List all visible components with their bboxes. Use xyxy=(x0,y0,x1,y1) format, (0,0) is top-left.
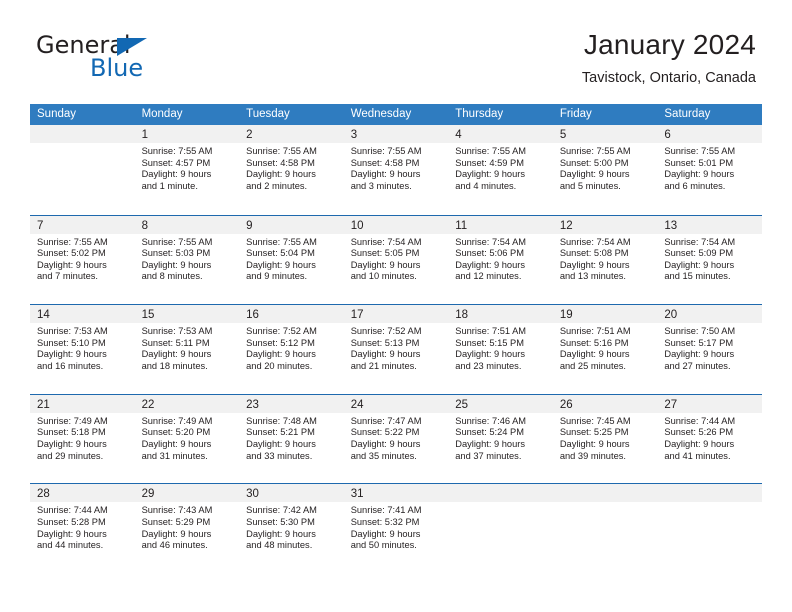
daylight-text-line1: Daylight: 9 hours xyxy=(560,439,654,451)
daylight-text-line2: and 35 minutes. xyxy=(351,451,445,463)
sunset-text: Sunset: 4:58 PM xyxy=(351,158,445,170)
day-number: 24 xyxy=(351,399,364,411)
day-info: Sunrise: 7:54 AMSunset: 5:09 PMDaylight:… xyxy=(657,234,762,283)
sunset-text: Sunset: 5:26 PM xyxy=(664,427,758,439)
day-number-band: 27 xyxy=(657,395,762,413)
day-info: Sunrise: 7:52 AMSunset: 5:12 PMDaylight:… xyxy=(239,323,344,372)
daylight-text-line1: Daylight: 9 hours xyxy=(246,439,340,451)
day-number: 28 xyxy=(37,488,50,500)
day-info: Sunrise: 7:44 AMSunset: 5:28 PMDaylight:… xyxy=(30,502,135,551)
day-cell[interactable]: 6Sunrise: 7:55 AMSunset: 5:01 PMDaylight… xyxy=(657,125,762,215)
day-info: Sunrise: 7:47 AMSunset: 5:22 PMDaylight:… xyxy=(344,413,449,462)
sunrise-text: Sunrise: 7:54 AM xyxy=(455,237,549,249)
day-number: 23 xyxy=(246,399,259,411)
day-number: 14 xyxy=(37,309,50,321)
day-info: Sunrise: 7:54 AMSunset: 5:08 PMDaylight:… xyxy=(553,234,658,283)
daylight-text-line2: and 31 minutes. xyxy=(142,451,236,463)
sunrise-text: Sunrise: 7:41 AM xyxy=(351,505,445,517)
sunset-text: Sunset: 5:10 PM xyxy=(37,338,131,350)
daylight-text-line1: Daylight: 9 hours xyxy=(246,529,340,541)
sunset-text: Sunset: 5:12 PM xyxy=(246,338,340,350)
sunset-text: Sunset: 5:08 PM xyxy=(560,248,654,260)
daylight-text-line2: and 9 minutes. xyxy=(246,271,340,283)
day-info: Sunrise: 7:55 AMSunset: 5:03 PMDaylight:… xyxy=(135,234,240,283)
daylight-text-line2: and 16 minutes. xyxy=(37,361,131,373)
daylight-text-line2: and 27 minutes. xyxy=(664,361,758,373)
day-cell[interactable]: 3Sunrise: 7:55 AMSunset: 4:58 PMDaylight… xyxy=(344,125,449,215)
day-number-band: 24 xyxy=(344,395,449,413)
sunrise-text: Sunrise: 7:52 AM xyxy=(351,326,445,338)
day-number-band xyxy=(448,484,553,502)
sunset-text: Sunset: 5:00 PM xyxy=(560,158,654,170)
general-blue-logo[interactable]: General Blue xyxy=(36,31,236,83)
daylight-text-line1: Daylight: 9 hours xyxy=(455,349,549,361)
day-number: 30 xyxy=(246,488,259,500)
day-info: Sunrise: 7:44 AMSunset: 5:26 PMDaylight:… xyxy=(657,413,762,462)
day-number: 4 xyxy=(455,129,461,141)
day-number-band xyxy=(553,484,658,502)
sunset-text: Sunset: 5:21 PM xyxy=(246,427,340,439)
weekday-header-saturday: Saturday xyxy=(657,104,762,125)
day-number-band: 25 xyxy=(448,395,553,413)
daylight-text-line1: Daylight: 9 hours xyxy=(37,529,131,541)
day-cell[interactable]: 17Sunrise: 7:52 AMSunset: 5:13 PMDayligh… xyxy=(344,305,449,394)
day-number-band: 23 xyxy=(239,395,344,413)
calendar-weeks: 1Sunrise: 7:55 AMSunset: 4:57 PMDaylight… xyxy=(30,125,762,573)
logo-text-blue: Blue xyxy=(90,54,143,82)
day-info: Sunrise: 7:55 AMSunset: 4:58 PMDaylight:… xyxy=(239,143,344,192)
daylight-text-line1: Daylight: 9 hours xyxy=(142,260,236,272)
day-number-band xyxy=(657,484,762,502)
daylight-text-line1: Daylight: 9 hours xyxy=(142,349,236,361)
sunset-text: Sunset: 5:28 PM xyxy=(37,517,131,529)
day-number-band: 8 xyxy=(135,216,240,234)
daylight-text-line2: and 23 minutes. xyxy=(455,361,549,373)
day-number: 29 xyxy=(142,488,155,500)
daylight-text-line2: and 44 minutes. xyxy=(37,540,131,552)
day-info: Sunrise: 7:51 AMSunset: 5:16 PMDaylight:… xyxy=(553,323,658,372)
sunset-text: Sunset: 4:57 PM xyxy=(142,158,236,170)
daylight-text-line2: and 18 minutes. xyxy=(142,361,236,373)
daylight-text-line2: and 10 minutes. xyxy=(351,271,445,283)
day-cell[interactable]: 16Sunrise: 7:52 AMSunset: 5:12 PMDayligh… xyxy=(239,305,344,394)
day-info: Sunrise: 7:52 AMSunset: 5:13 PMDaylight:… xyxy=(344,323,449,372)
day-number: 3 xyxy=(351,129,357,141)
day-cell[interactable]: 21Sunrise: 7:49 AMSunset: 5:18 PMDayligh… xyxy=(30,395,135,484)
day-number-band: 9 xyxy=(239,216,344,234)
day-number-band: 4 xyxy=(448,125,553,143)
sunrise-text: Sunrise: 7:55 AM xyxy=(351,146,445,158)
day-number: 13 xyxy=(664,220,677,232)
day-number: 9 xyxy=(246,220,252,232)
day-number-band: 31 xyxy=(344,484,449,502)
daylight-text-line1: Daylight: 9 hours xyxy=(351,260,445,272)
sunrise-text: Sunrise: 7:42 AM xyxy=(246,505,340,517)
sunrise-text: Sunrise: 7:55 AM xyxy=(142,237,236,249)
daylight-text-line2: and 46 minutes. xyxy=(142,540,236,552)
day-cell[interactable]: 14Sunrise: 7:53 AMSunset: 5:10 PMDayligh… xyxy=(30,305,135,394)
day-cell[interactable]: 4Sunrise: 7:55 AMSunset: 4:59 PMDaylight… xyxy=(448,125,553,215)
day-number-band: 19 xyxy=(553,305,658,323)
daylight-text-line1: Daylight: 9 hours xyxy=(455,260,549,272)
day-cell[interactable]: 8Sunrise: 7:55 AMSunset: 5:03 PMDaylight… xyxy=(135,216,240,305)
day-number-band: 14 xyxy=(30,305,135,323)
day-number: 17 xyxy=(351,309,364,321)
day-cell[interactable]: 30Sunrise: 7:42 AMSunset: 5:30 PMDayligh… xyxy=(239,484,344,573)
day-number: 21 xyxy=(37,399,50,411)
day-number: 15 xyxy=(142,309,155,321)
daylight-text-line2: and 13 minutes. xyxy=(560,271,654,283)
day-number: 7 xyxy=(37,220,43,232)
day-number-band: 16 xyxy=(239,305,344,323)
day-cell[interactable]: 7Sunrise: 7:55 AMSunset: 5:02 PMDaylight… xyxy=(30,216,135,305)
daylight-text-line2: and 41 minutes. xyxy=(664,451,758,463)
sunrise-text: Sunrise: 7:45 AM xyxy=(560,416,654,428)
day-cell[interactable]: 9Sunrise: 7:55 AMSunset: 5:04 PMDaylight… xyxy=(239,216,344,305)
calendar-week-row: 1Sunrise: 7:55 AMSunset: 4:57 PMDaylight… xyxy=(30,125,762,215)
sunset-text: Sunset: 5:17 PM xyxy=(664,338,758,350)
daylight-text-line1: Daylight: 9 hours xyxy=(351,529,445,541)
day-cell-empty xyxy=(657,484,762,573)
page-header: General Blue January 2024 Tavistock, Ont… xyxy=(0,0,792,103)
daylight-text-line1: Daylight: 9 hours xyxy=(455,439,549,451)
daylight-text-line1: Daylight: 9 hours xyxy=(37,260,131,272)
daylight-text-line1: Daylight: 9 hours xyxy=(455,169,549,181)
day-number-band: 26 xyxy=(553,395,658,413)
sunrise-text: Sunrise: 7:53 AM xyxy=(37,326,131,338)
sunrise-text: Sunrise: 7:47 AM xyxy=(351,416,445,428)
day-cell[interactable]: 19Sunrise: 7:51 AMSunset: 5:16 PMDayligh… xyxy=(553,305,658,394)
day-cell-empty xyxy=(448,484,553,573)
day-number-band: 6 xyxy=(657,125,762,143)
day-number-band: 20 xyxy=(657,305,762,323)
day-number-band: 7 xyxy=(30,216,135,234)
day-info: Sunrise: 7:53 AMSunset: 5:11 PMDaylight:… xyxy=(135,323,240,372)
calendar-week-row: 21Sunrise: 7:49 AMSunset: 5:18 PMDayligh… xyxy=(30,394,762,484)
page-title: January 2024 xyxy=(582,28,756,62)
sunrise-text: Sunrise: 7:46 AM xyxy=(455,416,549,428)
day-number-band: 2 xyxy=(239,125,344,143)
day-cell[interactable]: 18Sunrise: 7:51 AMSunset: 5:15 PMDayligh… xyxy=(448,305,553,394)
sunrise-text: Sunrise: 7:55 AM xyxy=(560,146,654,158)
sunset-text: Sunset: 5:25 PM xyxy=(560,427,654,439)
day-info: Sunrise: 7:55 AMSunset: 5:00 PMDaylight:… xyxy=(553,143,658,192)
day-info: Sunrise: 7:45 AMSunset: 5:25 PMDaylight:… xyxy=(553,413,658,462)
day-cell[interactable]: 23Sunrise: 7:48 AMSunset: 5:21 PMDayligh… xyxy=(239,395,344,484)
daylight-text-line1: Daylight: 9 hours xyxy=(142,439,236,451)
day-number: 18 xyxy=(455,309,468,321)
sunrise-text: Sunrise: 7:55 AM xyxy=(246,146,340,158)
sunrise-text: Sunrise: 7:43 AM xyxy=(142,505,236,517)
sunset-text: Sunset: 5:24 PM xyxy=(455,427,549,439)
sunrise-text: Sunrise: 7:55 AM xyxy=(37,237,131,249)
weekday-header-tuesday: Tuesday xyxy=(239,104,344,125)
day-cell[interactable]: 31Sunrise: 7:41 AMSunset: 5:32 PMDayligh… xyxy=(344,484,449,573)
sunset-text: Sunset: 5:32 PM xyxy=(351,517,445,529)
daylight-text-line2: and 20 minutes. xyxy=(246,361,340,373)
day-number-band: 18 xyxy=(448,305,553,323)
day-number: 31 xyxy=(351,488,364,500)
title-block: January 2024 Tavistock, Ontario, Canada xyxy=(582,28,756,87)
daylight-text-line1: Daylight: 9 hours xyxy=(664,349,758,361)
day-info: Sunrise: 7:55 AMSunset: 4:58 PMDaylight:… xyxy=(344,143,449,192)
sunset-text: Sunset: 5:05 PM xyxy=(351,248,445,260)
calendar-week-row: 14Sunrise: 7:53 AMSunset: 5:10 PMDayligh… xyxy=(30,304,762,394)
day-cell[interactable]: 24Sunrise: 7:47 AMSunset: 5:22 PMDayligh… xyxy=(344,395,449,484)
day-cell-empty xyxy=(553,484,658,573)
day-info: Sunrise: 7:41 AMSunset: 5:32 PMDaylight:… xyxy=(344,502,449,551)
daylight-text-line2: and 4 minutes. xyxy=(455,181,549,193)
sunrise-text: Sunrise: 7:48 AM xyxy=(246,416,340,428)
day-cell[interactable]: 25Sunrise: 7:46 AMSunset: 5:24 PMDayligh… xyxy=(448,395,553,484)
day-number-band: 30 xyxy=(239,484,344,502)
day-number-band xyxy=(30,125,135,143)
day-info: Sunrise: 7:55 AMSunset: 5:04 PMDaylight:… xyxy=(239,234,344,283)
day-info: Sunrise: 7:53 AMSunset: 5:10 PMDaylight:… xyxy=(30,323,135,372)
day-info: Sunrise: 7:51 AMSunset: 5:15 PMDaylight:… xyxy=(448,323,553,372)
daylight-text-line1: Daylight: 9 hours xyxy=(664,439,758,451)
daylight-text-line2: and 39 minutes. xyxy=(560,451,654,463)
daylight-text-line1: Daylight: 9 hours xyxy=(142,529,236,541)
day-cell-empty xyxy=(30,125,135,215)
sunset-text: Sunset: 4:59 PM xyxy=(455,158,549,170)
sunset-text: Sunset: 5:16 PM xyxy=(560,338,654,350)
day-number-band: 28 xyxy=(30,484,135,502)
sunrise-text: Sunrise: 7:55 AM xyxy=(246,237,340,249)
daylight-text-line1: Daylight: 9 hours xyxy=(37,439,131,451)
day-number: 6 xyxy=(664,129,670,141)
sunset-text: Sunset: 5:15 PM xyxy=(455,338,549,350)
sunset-text: Sunset: 5:29 PM xyxy=(142,517,236,529)
weekday-header-thursday: Thursday xyxy=(448,104,553,125)
daylight-text-line1: Daylight: 9 hours xyxy=(560,169,654,181)
daylight-text-line2: and 6 minutes. xyxy=(664,181,758,193)
day-number-band: 17 xyxy=(344,305,449,323)
day-info: Sunrise: 7:46 AMSunset: 5:24 PMDaylight:… xyxy=(448,413,553,462)
day-cell[interactable]: 13Sunrise: 7:54 AMSunset: 5:09 PMDayligh… xyxy=(657,216,762,305)
day-cell[interactable]: 26Sunrise: 7:45 AMSunset: 5:25 PMDayligh… xyxy=(553,395,658,484)
weekday-header-friday: Friday xyxy=(553,104,658,125)
day-number: 22 xyxy=(142,399,155,411)
day-info: Sunrise: 7:42 AMSunset: 5:30 PMDaylight:… xyxy=(239,502,344,551)
day-info: Sunrise: 7:54 AMSunset: 5:06 PMDaylight:… xyxy=(448,234,553,283)
day-cell[interactable]: 28Sunrise: 7:44 AMSunset: 5:28 PMDayligh… xyxy=(30,484,135,573)
daylight-text-line2: and 21 minutes. xyxy=(351,361,445,373)
calendar-page: General Blue January 2024 Tavistock, Ont… xyxy=(0,0,792,612)
day-info: Sunrise: 7:43 AMSunset: 5:29 PMDaylight:… xyxy=(135,502,240,551)
sunset-text: Sunset: 5:09 PM xyxy=(664,248,758,260)
daylight-text-line2: and 1 minute. xyxy=(142,181,236,193)
day-number: 11 xyxy=(455,220,467,232)
sunrise-text: Sunrise: 7:49 AM xyxy=(37,416,131,428)
weekday-header-sunday: Sunday xyxy=(30,104,135,125)
sunset-text: Sunset: 4:58 PM xyxy=(246,158,340,170)
daylight-text-line1: Daylight: 9 hours xyxy=(664,260,758,272)
weekday-header-monday: Monday xyxy=(135,104,240,125)
daylight-text-line2: and 37 minutes. xyxy=(455,451,549,463)
daylight-text-line2: and 29 minutes. xyxy=(37,451,131,463)
daylight-text-line2: and 3 minutes. xyxy=(351,181,445,193)
day-cell[interactable]: 20Sunrise: 7:50 AMSunset: 5:17 PMDayligh… xyxy=(657,305,762,394)
day-number: 20 xyxy=(664,309,677,321)
sunrise-text: Sunrise: 7:49 AM xyxy=(142,416,236,428)
day-info: Sunrise: 7:55 AMSunset: 5:02 PMDaylight:… xyxy=(30,234,135,283)
sunset-text: Sunset: 5:03 PM xyxy=(142,248,236,260)
weekday-header-row: Sunday Monday Tuesday Wednesday Thursday… xyxy=(30,104,762,125)
day-cell[interactable]: 22Sunrise: 7:49 AMSunset: 5:20 PMDayligh… xyxy=(135,395,240,484)
daylight-text-line1: Daylight: 9 hours xyxy=(142,169,236,181)
sunrise-text: Sunrise: 7:44 AM xyxy=(664,416,758,428)
day-number: 5 xyxy=(560,129,566,141)
weekday-header-wednesday: Wednesday xyxy=(344,104,449,125)
calendar-grid: Sunday Monday Tuesday Wednesday Thursday… xyxy=(30,104,762,573)
sunrise-text: Sunrise: 7:54 AM xyxy=(351,237,445,249)
day-number-band: 15 xyxy=(135,305,240,323)
day-number-band: 11 xyxy=(448,216,553,234)
daylight-text-line2: and 33 minutes. xyxy=(246,451,340,463)
day-number: 27 xyxy=(664,399,677,411)
daylight-text-line1: Daylight: 9 hours xyxy=(664,169,758,181)
sunset-text: Sunset: 5:02 PM xyxy=(37,248,131,260)
day-number-band: 13 xyxy=(657,216,762,234)
sunrise-text: Sunrise: 7:52 AM xyxy=(246,326,340,338)
sunrise-text: Sunrise: 7:51 AM xyxy=(455,326,549,338)
calendar-week-row: 7Sunrise: 7:55 AMSunset: 5:02 PMDaylight… xyxy=(30,215,762,305)
daylight-text-line2: and 25 minutes. xyxy=(560,361,654,373)
sunrise-text: Sunrise: 7:55 AM xyxy=(142,146,236,158)
sunset-text: Sunset: 5:20 PM xyxy=(142,427,236,439)
sunrise-text: Sunrise: 7:51 AM xyxy=(560,326,654,338)
sunset-text: Sunset: 5:11 PM xyxy=(142,338,236,350)
day-cell[interactable]: 12Sunrise: 7:54 AMSunset: 5:08 PMDayligh… xyxy=(553,216,658,305)
daylight-text-line1: Daylight: 9 hours xyxy=(246,169,340,181)
day-cell[interactable]: 1Sunrise: 7:55 AMSunset: 4:57 PMDaylight… xyxy=(135,125,240,215)
day-info: Sunrise: 7:48 AMSunset: 5:21 PMDaylight:… xyxy=(239,413,344,462)
day-number: 26 xyxy=(560,399,573,411)
sunset-text: Sunset: 5:18 PM xyxy=(37,427,131,439)
daylight-text-line1: Daylight: 9 hours xyxy=(560,260,654,272)
day-number-band: 10 xyxy=(344,216,449,234)
daylight-text-line2: and 15 minutes. xyxy=(664,271,758,283)
sunrise-text: Sunrise: 7:44 AM xyxy=(37,505,131,517)
day-number-band: 1 xyxy=(135,125,240,143)
day-info: Sunrise: 7:50 AMSunset: 5:17 PMDaylight:… xyxy=(657,323,762,372)
sunrise-text: Sunrise: 7:54 AM xyxy=(664,237,758,249)
day-number: 16 xyxy=(246,309,259,321)
daylight-text-line2: and 48 minutes. xyxy=(246,540,340,552)
page-subtitle: Tavistock, Ontario, Canada xyxy=(582,70,756,87)
sunset-text: Sunset: 5:30 PM xyxy=(246,517,340,529)
daylight-text-line2: and 12 minutes. xyxy=(455,271,549,283)
daylight-text-line1: Daylight: 9 hours xyxy=(246,349,340,361)
daylight-text-line1: Daylight: 9 hours xyxy=(351,349,445,361)
day-number-band: 29 xyxy=(135,484,240,502)
sunrise-text: Sunrise: 7:55 AM xyxy=(455,146,549,158)
day-number-band: 22 xyxy=(135,395,240,413)
sunrise-text: Sunrise: 7:54 AM xyxy=(560,237,654,249)
day-number-band: 5 xyxy=(553,125,658,143)
daylight-text-line1: Daylight: 9 hours xyxy=(560,349,654,361)
day-info: Sunrise: 7:55 AMSunset: 4:57 PMDaylight:… xyxy=(135,143,240,192)
day-cell[interactable]: 27Sunrise: 7:44 AMSunset: 5:26 PMDayligh… xyxy=(657,395,762,484)
day-cell[interactable]: 2Sunrise: 7:55 AMSunset: 4:58 PMDaylight… xyxy=(239,125,344,215)
day-info: Sunrise: 7:54 AMSunset: 5:05 PMDaylight:… xyxy=(344,234,449,283)
daylight-text-line1: Daylight: 9 hours xyxy=(246,260,340,272)
daylight-text-line2: and 8 minutes. xyxy=(142,271,236,283)
day-cell[interactable]: 29Sunrise: 7:43 AMSunset: 5:29 PMDayligh… xyxy=(135,484,240,573)
day-info: Sunrise: 7:49 AMSunset: 5:20 PMDaylight:… xyxy=(135,413,240,462)
day-cell[interactable]: 11Sunrise: 7:54 AMSunset: 5:06 PMDayligh… xyxy=(448,216,553,305)
day-cell[interactable]: 15Sunrise: 7:53 AMSunset: 5:11 PMDayligh… xyxy=(135,305,240,394)
day-cell[interactable]: 5Sunrise: 7:55 AMSunset: 5:00 PMDaylight… xyxy=(553,125,658,215)
day-cell[interactable]: 10Sunrise: 7:54 AMSunset: 5:05 PMDayligh… xyxy=(344,216,449,305)
day-number: 25 xyxy=(455,399,468,411)
sunset-text: Sunset: 5:04 PM xyxy=(246,248,340,260)
daylight-text-line2: and 5 minutes. xyxy=(560,181,654,193)
day-info: Sunrise: 7:55 AMSunset: 5:01 PMDaylight:… xyxy=(657,143,762,192)
day-number: 10 xyxy=(351,220,364,232)
daylight-text-line2: and 50 minutes. xyxy=(351,540,445,552)
day-info: Sunrise: 7:55 AMSunset: 4:59 PMDaylight:… xyxy=(448,143,553,192)
day-number-band: 12 xyxy=(553,216,658,234)
sunset-text: Sunset: 5:06 PM xyxy=(455,248,549,260)
daylight-text-line2: and 2 minutes. xyxy=(246,181,340,193)
daylight-text-line1: Daylight: 9 hours xyxy=(351,439,445,451)
day-number: 1 xyxy=(142,129,148,141)
sunrise-text: Sunrise: 7:50 AM xyxy=(664,326,758,338)
day-number: 19 xyxy=(560,309,573,321)
daylight-text-line1: Daylight: 9 hours xyxy=(351,169,445,181)
sunset-text: Sunset: 5:22 PM xyxy=(351,427,445,439)
sunrise-text: Sunrise: 7:53 AM xyxy=(142,326,236,338)
sunset-text: Sunset: 5:13 PM xyxy=(351,338,445,350)
daylight-text-line2: and 7 minutes. xyxy=(37,271,131,283)
calendar-week-row: 28Sunrise: 7:44 AMSunset: 5:28 PMDayligh… xyxy=(30,483,762,573)
day-number: 2 xyxy=(246,129,252,141)
day-number: 12 xyxy=(560,220,573,232)
day-number-band: 21 xyxy=(30,395,135,413)
day-info: Sunrise: 7:49 AMSunset: 5:18 PMDaylight:… xyxy=(30,413,135,462)
sunset-text: Sunset: 5:01 PM xyxy=(664,158,758,170)
sunrise-text: Sunrise: 7:55 AM xyxy=(664,146,758,158)
daylight-text-line1: Daylight: 9 hours xyxy=(37,349,131,361)
day-number-band: 3 xyxy=(344,125,449,143)
day-number: 8 xyxy=(142,220,148,232)
